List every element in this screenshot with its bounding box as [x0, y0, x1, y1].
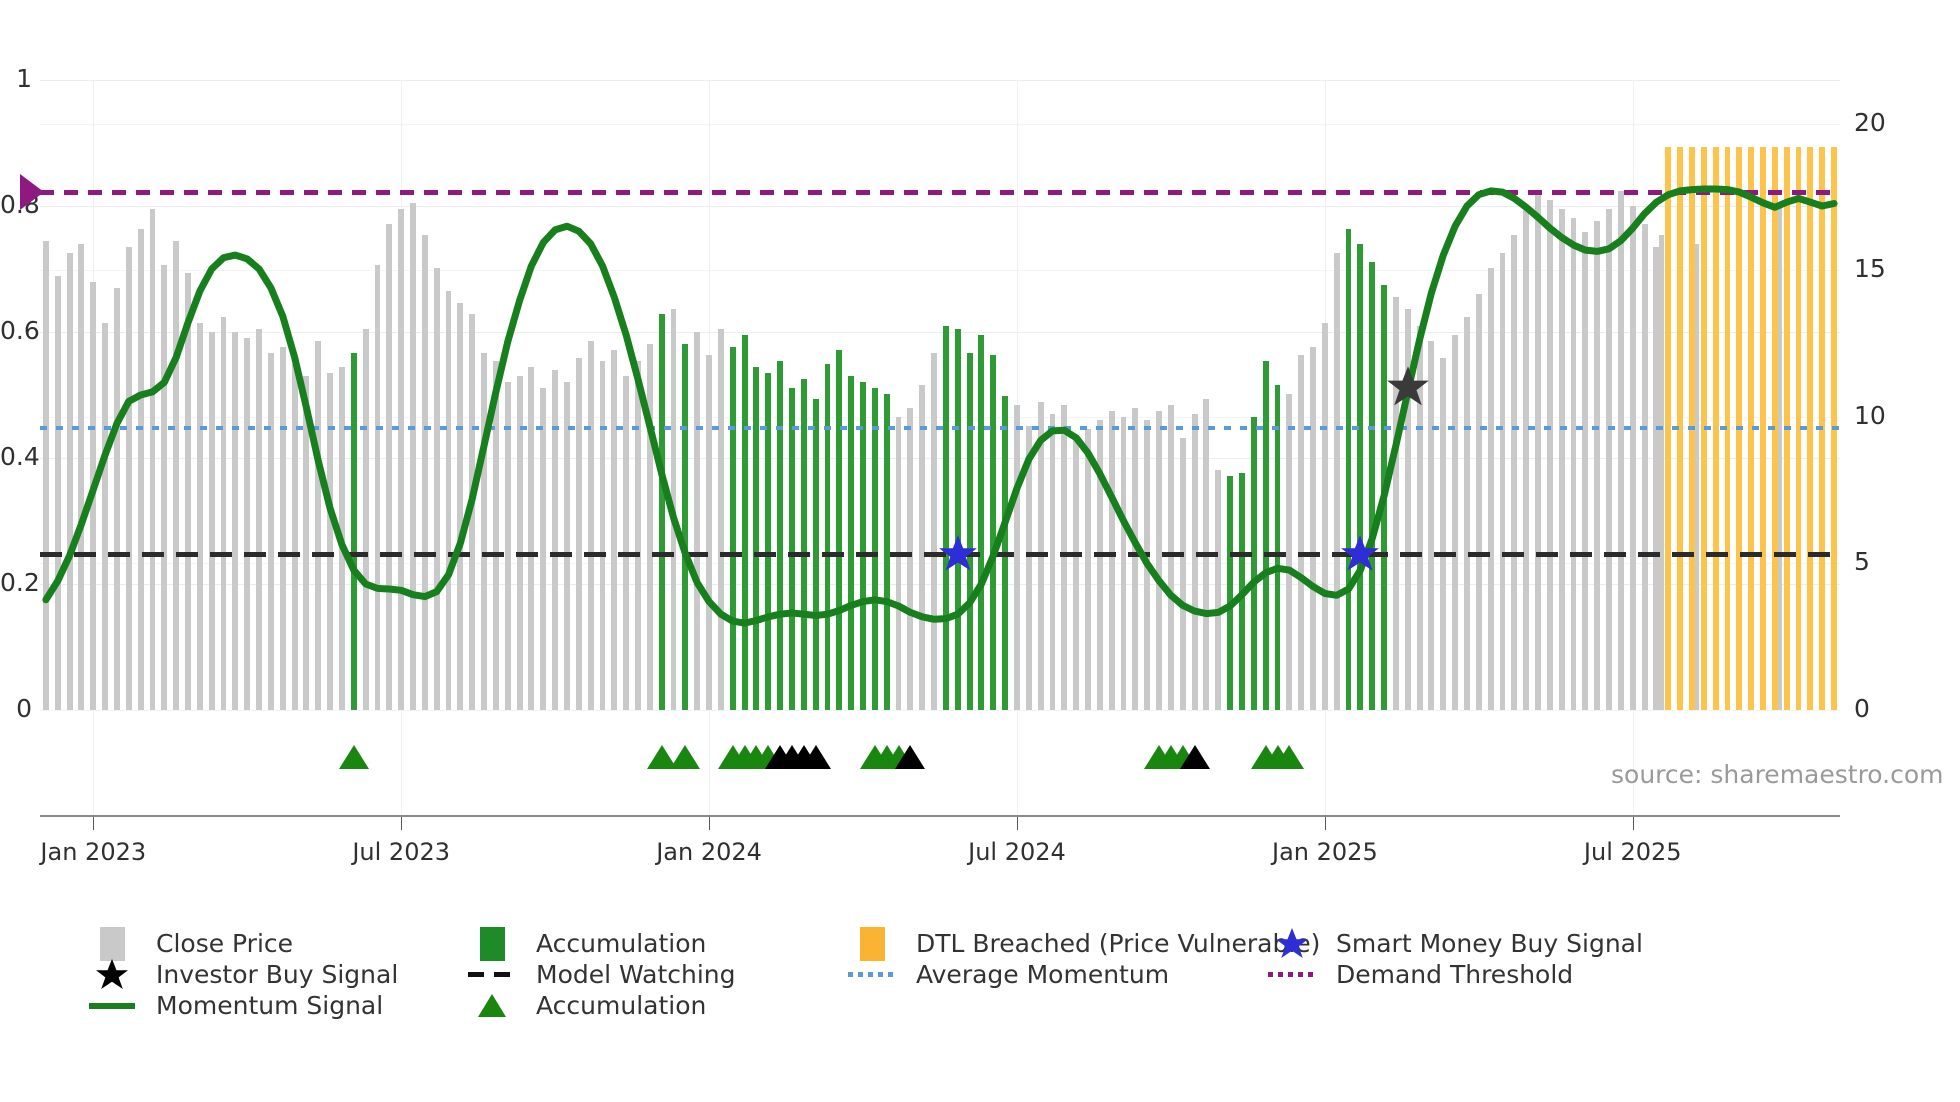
purple-dotted-line [1264, 972, 1320, 977]
legend-label: Smart Money Buy Signal [1336, 929, 1643, 958]
plot-area [40, 80, 1840, 710]
source-attribution: source: sharemaestro.com [1611, 760, 1944, 789]
legend-label: Accumulation [536, 991, 706, 1020]
accumulation-triangle-marker [1274, 745, 1304, 769]
accumulation-triangle-marker [339, 745, 369, 769]
y-axis-right-tick-label: 5 [1854, 547, 1870, 576]
accumulation-triangle-strip [40, 745, 1840, 785]
green-square-swatch [464, 927, 520, 961]
y-axis-left-tick-label: 0.4 [0, 442, 32, 471]
x-axis-line [40, 815, 1840, 817]
smart-money-buy-signal-star [1340, 534, 1380, 574]
legend-label: Accumulation [536, 929, 706, 958]
legend-item-dtl-breached[interactable]: DTL Breached (Price Vulnerable) [844, 927, 1264, 961]
blue-dotted-line [844, 972, 900, 977]
legend-label: DTL Breached (Price Vulnerable) [916, 929, 1320, 958]
legend-label: Close Price [156, 929, 293, 958]
legend-item-accumulation-triangle[interactable]: Accumulation [464, 991, 844, 1020]
legend-label: Investor Buy Signal [156, 960, 398, 989]
y-axis-left-tick-label: 0.6 [0, 316, 32, 345]
x-axis-tick-label: Jan 2024 [656, 838, 762, 866]
x-axis-tick [401, 817, 402, 830]
legend-row-2: Investor Buy Signal Model Watching Avera… [84, 959, 1924, 990]
investor-buy-signal-star [1386, 365, 1430, 409]
chart-canvas: 00.20.40.60.81 05101520 Jan 2023Jul 2023… [0, 0, 1960, 1102]
chart-legend: Close Price Accumulation DTL Breached (P… [84, 928, 1924, 1021]
x-axis-tick-label: Jul 2023 [352, 838, 450, 866]
x-axis-tick-label: Jul 2025 [1584, 838, 1682, 866]
x-axis-tick [1017, 817, 1018, 830]
legend-item-average-momentum[interactable]: Average Momentum [844, 960, 1264, 989]
black-dashed-line [464, 972, 520, 977]
x-axis-tick [93, 817, 94, 830]
green-line [84, 1003, 140, 1009]
legend-label: Momentum Signal [156, 991, 383, 1020]
x-axis-tick-label: Jan 2025 [1272, 838, 1378, 866]
accumulation-triangle-marker [670, 745, 700, 769]
black-star-icon [84, 957, 140, 993]
x-axis-tick [1633, 817, 1634, 830]
legend-row-3: Momentum Signal Accumulation [84, 990, 1924, 1021]
legend-label: Average Momentum [916, 960, 1169, 989]
legend-item-accumulation-bar[interactable]: Accumulation [464, 927, 844, 961]
legend-row-1: Close Price Accumulation DTL Breached (P… [84, 928, 1924, 959]
demand-threshold-start-marker [20, 174, 44, 210]
legend-label: Demand Threshold [1336, 960, 1573, 989]
gridline [40, 710, 1840, 711]
accumulation-triangle-marker [801, 745, 831, 769]
legend-item-momentum-signal[interactable]: Momentum Signal [84, 991, 464, 1020]
signal-markers [40, 80, 1840, 710]
legend-item-investor-buy-signal[interactable]: Investor Buy Signal [84, 957, 464, 993]
gray-square-swatch [84, 927, 140, 961]
legend-label: Model Watching [536, 960, 736, 989]
accumulation-triangle-marker [1180, 745, 1210, 769]
legend-item-model-watching[interactable]: Model Watching [464, 960, 844, 989]
y-axis-right-tick-label: 10 [1854, 401, 1886, 430]
accumulation-triangle-marker [895, 745, 925, 769]
legend-item-close-price[interactable]: Close Price [84, 927, 464, 961]
x-axis-tick [709, 817, 710, 830]
y-axis-left-tick-label: 0 [0, 694, 32, 723]
green-triangle-icon [464, 994, 520, 1017]
y-axis-left-tick-label: 1 [0, 64, 32, 93]
x-axis-tick-label: Jul 2024 [968, 838, 1066, 866]
smart-money-buy-signal-star [938, 534, 978, 574]
x-axis-tick-label: Jan 2023 [40, 838, 146, 866]
legend-item-demand-threshold[interactable]: Demand Threshold [1264, 960, 1573, 989]
x-axis-tick [1325, 817, 1326, 830]
legend-item-smart-money-buy-signal[interactable]: Smart Money Buy Signal [1264, 926, 1643, 962]
blue-star-icon [1264, 926, 1320, 962]
y-axis-right-tick-label: 15 [1854, 254, 1886, 283]
orange-square-swatch [844, 927, 900, 961]
y-axis-right-tick-label: 0 [1854, 694, 1870, 723]
y-axis-right-tick-label: 20 [1854, 108, 1886, 137]
y-axis-left-tick-label: 0.2 [0, 568, 32, 597]
